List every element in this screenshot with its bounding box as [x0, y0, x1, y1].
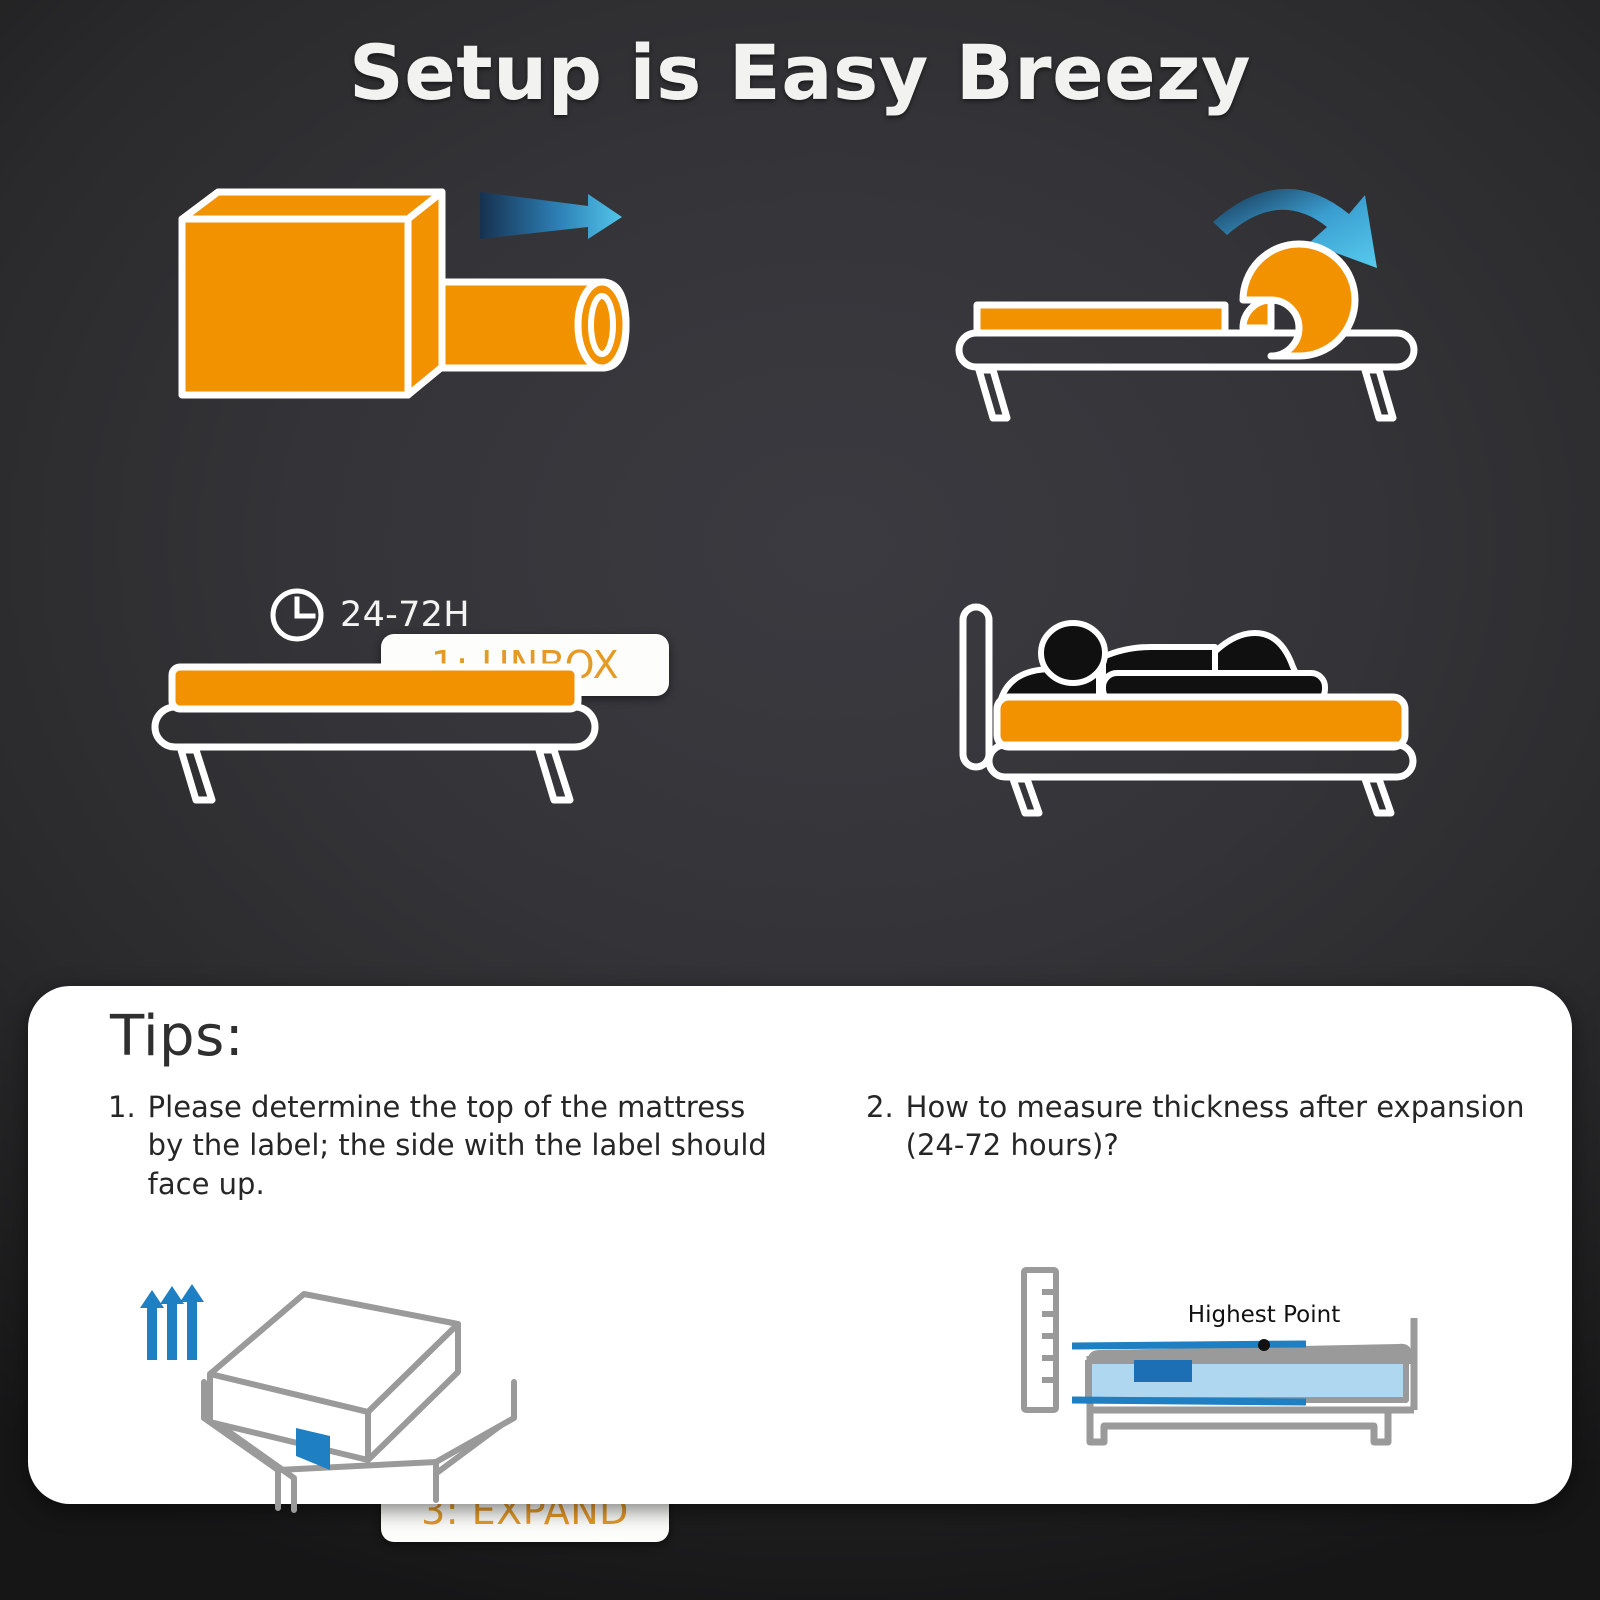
- tip-2-number: 2.: [866, 1088, 906, 1165]
- tip-item-1: 1. Please determine the top of the mattr…: [108, 1088, 788, 1203]
- upper-measure-line: [1072, 1344, 1306, 1346]
- tip-1-number: 1.: [108, 1088, 148, 1203]
- box-and-roll-icon: [150, 175, 650, 435]
- lower-measure-line: [1072, 1400, 1306, 1402]
- mattress-label-patch: [1134, 1360, 1192, 1382]
- ruler-measuring-mattress-icon: Highest Point: [1016, 1260, 1446, 1470]
- tips-heading: Tips:: [110, 1004, 244, 1069]
- flat-mattress-bed-icon: [150, 655, 600, 805]
- expand-timer: 24-72H: [268, 586, 470, 644]
- tip-item-2: 2. How to measure thickness after expans…: [866, 1088, 1546, 1165]
- tip-1-text-row: 1. Please determine the top of the mattr…: [108, 1088, 788, 1203]
- tip-2-body: How to measure thickness after expansion…: [906, 1088, 1546, 1165]
- highest-point-label: Highest Point: [1188, 1302, 1340, 1328]
- unrolling-mattress-icon: [955, 170, 1425, 420]
- tips-card: Tips: 1. Please determine the top of the…: [28, 986, 1572, 1504]
- tip-2-text-row: 2. How to measure thickness after expans…: [866, 1088, 1546, 1165]
- clock-icon: [268, 586, 326, 644]
- infographic-page: Setup is Easy Breezy: [0, 0, 1600, 1600]
- tip-1-body: Please determine the top of the mattress…: [148, 1088, 788, 1203]
- isometric-mattress-on-frame-icon: [118, 1260, 538, 1522]
- up-arrows-icon: [140, 1284, 204, 1360]
- page-title: Setup is Easy Breezy: [0, 28, 1600, 117]
- expand-timer-label: 24-72H: [340, 595, 470, 635]
- person-sleeping-bed-icon: [955, 595, 1425, 815]
- highest-point-marker: [1258, 1339, 1270, 1351]
